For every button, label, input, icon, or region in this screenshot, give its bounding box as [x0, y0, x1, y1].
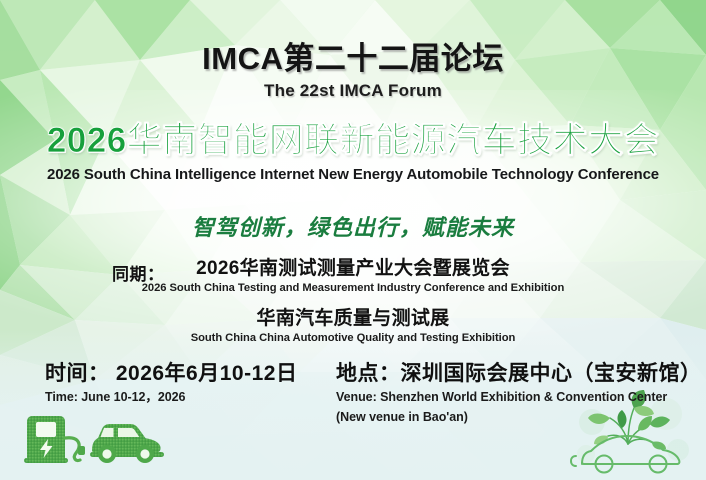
venue-en-line2: (New venue in Bao'an)	[336, 409, 702, 426]
concurrent-event-row: 华南汽车质量与测试展 South China China Automotive …	[0, 308, 706, 344]
concurrent-events-block: 同期： 2026华南测试测量产业大会暨展览会 2026 South China …	[0, 258, 706, 344]
slogan: 智驾创新，绿色出行，赋能未来	[0, 210, 706, 242]
venue-en-line1: Venue: Shenzhen World Exhibition & Conve…	[336, 389, 702, 406]
time-cn: 时间： 2026年6月10-12日	[45, 362, 297, 386]
concurrent-event-cn: 2026华南测试测量产业大会暨展览会	[0, 258, 706, 280]
event-details: 时间： 2026年6月10-12日 Time: June 10-12，2026 …	[0, 362, 706, 432]
main-title-en: 2026 South China Intelligence Internet N…	[5, 166, 700, 183]
concurrent-event-cn: 华南汽车质量与测试展	[0, 308, 706, 330]
concurrent-event-en: South China China Automotive Quality and…	[0, 332, 706, 344]
venue-cn: 地点：深圳国际会展中心（宝安新馆）	[336, 362, 702, 386]
main-title-cn: 2026华南智能网联新能源汽车技术大会	[0, 122, 706, 161]
conference-poster: IMCA第二十二届论坛 The 22st IMCA Forum 2026华南智能…	[0, 0, 706, 480]
time-en: Time: June 10-12，2026	[45, 389, 297, 406]
concurrent-event-en: 2026 South China Testing and Measurement…	[0, 282, 706, 294]
forum-header: IMCA第二十二届论坛 The 22st IMCA Forum	[0, 42, 706, 101]
concurrent-label: 同期：	[112, 260, 165, 285]
concurrent-event-row: 同期： 2026华南测试测量产业大会暨展览会 2026 South China …	[0, 258, 706, 294]
venue-block: 地点：深圳国际会展中心（宝安新馆） Venue: Shenzhen World …	[336, 362, 702, 426]
forum-title-en: The 22st IMCA Forum	[0, 81, 706, 101]
main-title-block: 2026华南智能网联新能源汽车技术大会 2026 South China Int…	[0, 122, 706, 183]
forum-title-cn: IMCA第二十二届论坛	[0, 42, 706, 75]
time-block: 时间： 2026年6月10-12日 Time: June 10-12，2026	[45, 362, 297, 406]
